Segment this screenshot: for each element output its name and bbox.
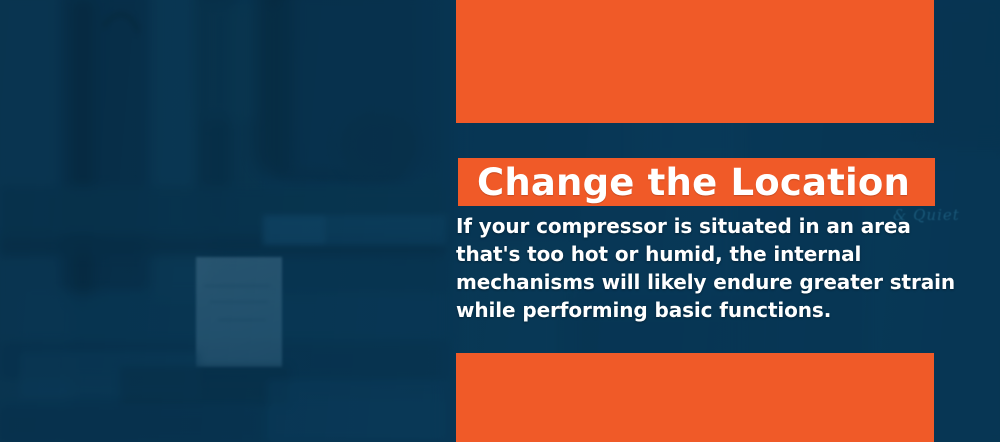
top-orange-block: [456, 0, 934, 123]
slide-canvas: & Quiet Change the Location If your comp…: [0, 0, 1000, 442]
body-line: that's too hot or humid, the internal: [456, 240, 916, 268]
slide-content: Change the Location If your compressor i…: [0, 0, 1000, 442]
body-line: If your compressor is situated in an are…: [456, 212, 916, 240]
title-banner: Change the Location: [458, 158, 935, 206]
bottom-orange-block: [456, 353, 934, 442]
body-paragraph: If your compressor is situated in an are…: [456, 212, 916, 324]
page-title: Change the Location: [477, 164, 910, 201]
body-line: while performing basic functions.: [456, 296, 916, 324]
body-line: mechanisms will likely endure greater st…: [456, 268, 916, 296]
